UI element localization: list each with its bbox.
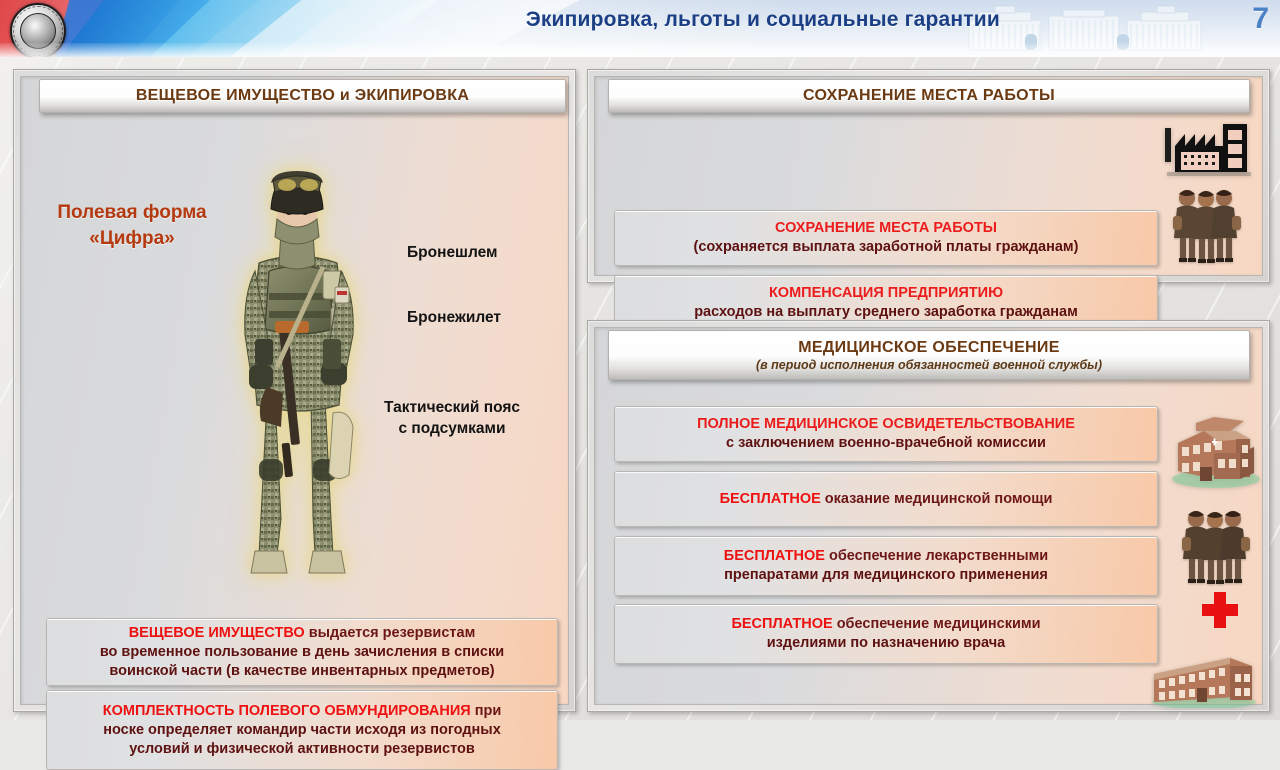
medical-box-3-line2: препаратами для медицинского применения: [724, 566, 1048, 585]
job-retention-box-2-line1: КОМПЕНСАЦИЯ ПРЕДПРИЯТИЮ: [769, 284, 1003, 303]
equipment-note-1-line2: во временное пользование в день зачислен…: [100, 643, 504, 662]
callout-tactical-belt-line1: Тактический пояс: [384, 397, 520, 418]
field-uniform-label-line1: Полевая форма: [42, 200, 222, 226]
panel-medical-support-title: МЕДИЦИНСКОЕ ОБЕСПЕЧЕНИЕ (в период исполн…: [608, 330, 1250, 380]
red-cross-horizontal: [1202, 604, 1238, 616]
equipment-note-2-line1: КОМПЛЕКТНОСТЬ ПОЛЕВОГО ОБМУНДИРОВАНИЯ пр…: [103, 702, 502, 721]
callout-tactical-belt: Тактический пояс с подсумками: [384, 397, 520, 439]
header-bottom-band: [0, 43, 1280, 57]
three-workers-icon-2: [1180, 507, 1254, 590]
equipment-note-1-rest: выдается резервистам: [305, 625, 476, 641]
medical-box-4-line1: БЕСПЛАТНОЕ обеспечение медицинскими: [731, 615, 1040, 634]
job-retention-box-1-line1: СОХРАНЕНИЕ МЕСТА РАБОТЫ: [775, 219, 997, 238]
equipment-note-1-highlight: ВЕЩЕВОЕ ИМУЩЕСТВО: [129, 625, 305, 641]
page-title: Экипировка, льготы и социальные гарантии: [0, 8, 1000, 32]
medical-box-3: БЕСПЛАТНОЕ обеспечение лекарственными пр…: [614, 536, 1158, 596]
job-retention-box-1-line2: (сохраняется выплата заработной платы гр…: [693, 238, 1078, 257]
medical-box-3-highlight: БЕСПЛАТНОЕ: [724, 548, 825, 564]
callout-helmet: Бронешлем: [407, 242, 498, 263]
panel-job-retention-title: СОХРАНЕНИЕ МЕСТА РАБОТЫ: [608, 79, 1250, 113]
field-uniform-label: Полевая форма «Цифра»: [42, 200, 222, 252]
equipment-note-2-rest: при: [471, 703, 502, 719]
clinic-building-icon: [1148, 646, 1260, 713]
equipment-note-box-1: ВЕЩЕВОЕ ИМУЩЕСТВО выдается резервистам в…: [46, 618, 558, 686]
medical-box-4: БЕСПЛАТНОЕ обеспечение медицинскими изде…: [614, 604, 1158, 664]
callout-tactical-belt-line2: с подсумками: [384, 418, 520, 439]
medical-box-1: ПОЛНОЕ МЕДИЦИНСКОЕ ОСВИДЕТЕЛЬСТВОВАНИЕ с…: [614, 406, 1158, 462]
medical-box-4-line2: изделиями по назначению врача: [767, 634, 1005, 653]
soldier-illustration: [215, 167, 380, 587]
medical-box-2-rest: оказание медицинской помощи: [821, 491, 1053, 507]
callout-body-armor: Бронежилет: [407, 307, 501, 328]
slide-header: Экипировка, льготы и социальные гарантии…: [0, 0, 1280, 57]
equipment-note-2-line2: носке определяет командир части исходя и…: [103, 721, 501, 740]
panel-equipment: ВЕЩЕВОЕ ИМУЩЕСТВО и ЭКИПИРОВКА Полевая ф…: [13, 69, 576, 712]
equipment-note-1-line3: воинской части (в качестве инвентарных п…: [109, 662, 494, 681]
panel-medical-support-title-text: МЕДИЦИНСКОЕ ОБЕСПЕЧЕНИЕ: [798, 339, 1059, 357]
panel-equipment-title-text: ВЕЩЕВОЕ ИМУЩЕСТВО и ЭКИПИРОВКА: [136, 87, 469, 105]
slide-root: Экипировка, льготы и социальные гарантии…: [0, 0, 1280, 720]
job-retention-icons: [1153, 118, 1261, 268]
medical-box-3-rest: обеспечение лекарственными: [825, 548, 1048, 564]
equipment-note-1-line1: ВЕЩЕВОЕ ИМУЩЕСТВО выдается резервистам: [129, 624, 476, 643]
page-number: 7: [1252, 2, 1269, 36]
medical-box-4-highlight: БЕСПЛАТНОЕ: [731, 616, 832, 632]
equipment-content: Полевая форма «Цифра»: [22, 122, 567, 702]
job-retention-box-1: СОХРАНЕНИЕ МЕСТА РАБОТЫ (сохраняется вып…: [614, 210, 1158, 266]
three-workers-icon: [1171, 186, 1245, 269]
panel-job-retention-title-text: СОХРАНЕНИЕ МЕСТА РАБОТЫ: [803, 87, 1055, 105]
equipment-note-2-line3: условий и физической активности резервис…: [129, 740, 475, 759]
medical-box-2: БЕСПЛАТНОЕ оказание медицинской помощи: [614, 471, 1158, 527]
panel-job-retention: СОХРАНЕНИЕ МЕСТА РАБОТЫ СОХРАНЕНИЕ МЕСТА…: [587, 69, 1270, 283]
medical-box-1-line1: ПОЛНОЕ МЕДИЦИНСКОЕ ОСВИДЕТЕЛЬСТВОВАНИЕ: [697, 415, 1075, 434]
medical-box-2-line1: БЕСПЛАТНОЕ оказание медицинской помощи: [720, 490, 1053, 509]
panel-medical-support: МЕДИЦИНСКОЕ ОБЕСПЕЧЕНИЕ (в период исполн…: [587, 320, 1270, 712]
medical-box-4-rest: обеспечение медицинскими: [833, 616, 1041, 632]
equipment-note-2-highlight: КОМПЛЕКТНОСТЬ ПОЛЕВОГО ОБМУНДИРОВАНИЯ: [103, 703, 471, 719]
medical-box-3-line1: БЕСПЛАТНОЕ обеспечение лекарственными: [724, 547, 1048, 566]
medical-box-1-line2: с заключением военно-врачебной комиссии: [726, 434, 1046, 453]
panel-medical-support-subtitle: (в период исполнения обязанностей военно…: [756, 358, 1102, 372]
factory-icon: [1161, 118, 1257, 185]
panel-equipment-title: ВЕЩЕВОЕ ИМУЩЕСТВО и ЭКИПИРОВКА: [39, 79, 566, 113]
red-cross-icon: [1202, 592, 1238, 628]
hospital-icon: [1166, 409, 1262, 494]
equipment-note-box-2: КОМПЛЕКТНОСТЬ ПОЛЕВОГО ОБМУНДИРОВАНИЯ пр…: [46, 690, 558, 770]
medical-box-2-highlight: БЕСПЛАТНОЕ: [720, 491, 821, 507]
field-uniform-label-line2: «Цифра»: [42, 226, 222, 252]
